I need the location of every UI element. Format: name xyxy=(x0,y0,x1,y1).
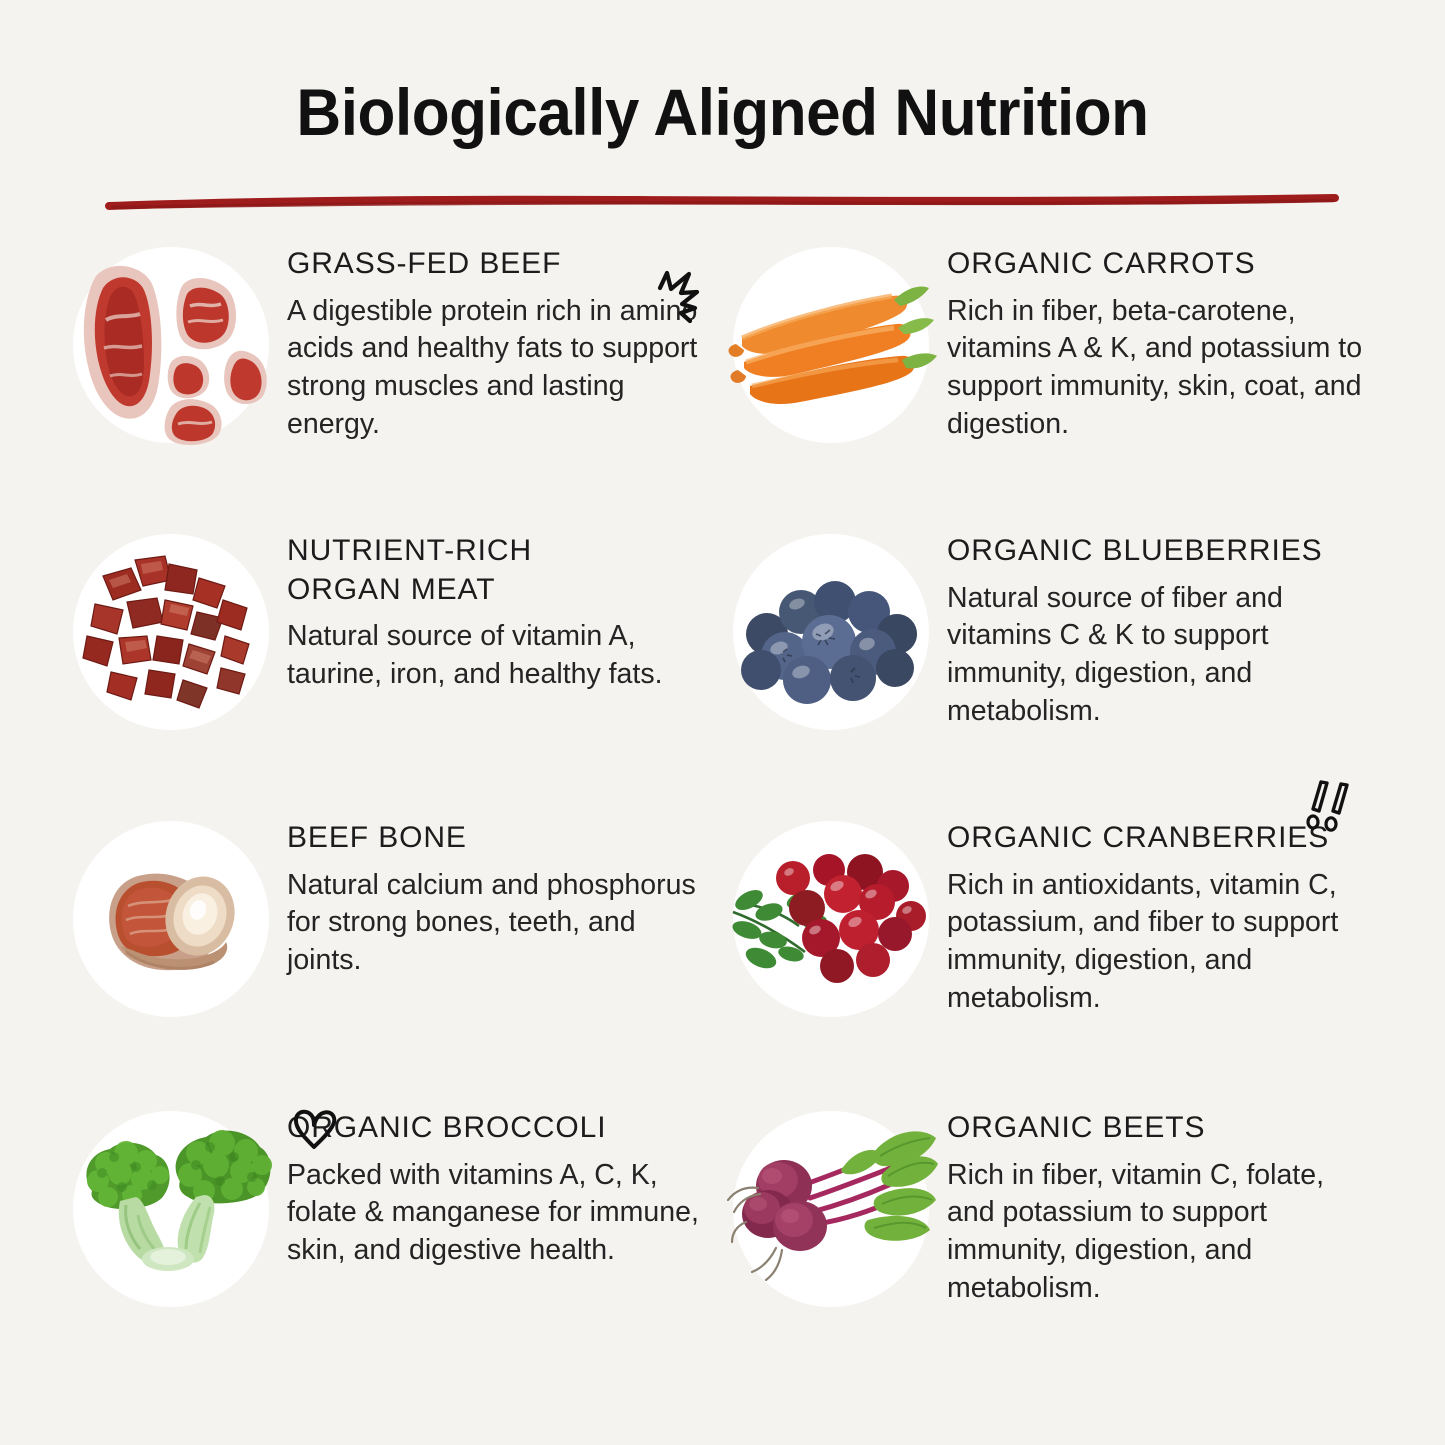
card-media-beef-bone xyxy=(55,809,287,1034)
card-description: Rich in fiber, beta-carotene, vitamins A… xyxy=(947,293,1365,443)
double-exclamation-doodle xyxy=(1305,778,1361,839)
card-title: ORGANIC CARROTS xyxy=(947,245,1365,283)
card-organic-cranberries: ORGANIC CRANBERRIES Rich in antioxidants… xyxy=(715,809,1375,1099)
card-grass-fed-beef: GRASS-FED BEEF A digestible protein rich… xyxy=(55,235,715,522)
card-description: Packed with vitamins A, C, K, folate & m… xyxy=(287,1157,705,1270)
card-body-organ-meat: NUTRIENT-RICH ORGAN MEAT Natural source … xyxy=(287,522,715,693)
card-body-beef: GRASS-FED BEEF A digestible protein rich… xyxy=(287,235,715,443)
card-title: GRASS-FED BEEF xyxy=(287,245,705,283)
carrots-icon xyxy=(724,258,939,438)
card-media-carrots xyxy=(715,235,947,460)
heart-icon xyxy=(290,1105,340,1153)
nutrition-grid: GRASS-FED BEEF A digestible protein rich… xyxy=(0,235,1445,1389)
card-description: A digestible protein rich in amino acids… xyxy=(287,293,705,443)
card-organic-broccoli: ORGANIC BROCCOLI Packed with vitamins A,… xyxy=(55,1099,715,1389)
card-media-beef xyxy=(55,235,287,460)
card-media-cranberries xyxy=(715,809,947,1034)
cranberries-icon xyxy=(725,834,937,1009)
card-title: ORGANIC CRANBERRIES xyxy=(947,819,1365,857)
card-description: Rich in fiber, vitamin C, folate, and po… xyxy=(947,1157,1365,1307)
card-title: ORGANIC BEETS xyxy=(947,1109,1365,1147)
card-description: Natural calcium and phosphorus for stron… xyxy=(287,867,705,980)
card-organic-blueberries: ORGANIC BLUEBERRIES Natural source of fi… xyxy=(715,522,1375,809)
card-title: NUTRIENT-RICH ORGAN MEAT xyxy=(287,532,705,609)
heart-doodle xyxy=(290,1105,340,1158)
card-media-blueberries xyxy=(715,522,947,747)
header: Biologically Aligned Nutrition xyxy=(0,0,1445,213)
card-media-organ-meat xyxy=(55,522,287,747)
card-body-blueberries: ORGANIC BLUEBERRIES Natural source of fi… xyxy=(947,522,1375,730)
organ-meat-cubes-icon xyxy=(65,540,277,730)
card-body-cranberries: ORGANIC CRANBERRIES Rich in antioxidants… xyxy=(947,809,1375,1017)
card-title: ORGANIC BLUEBERRIES xyxy=(947,532,1365,570)
card-organ-meat: NUTRIENT-RICH ORGAN MEAT Natural source … xyxy=(55,522,715,809)
card-description: Natural source of fiber and vitamins C &… xyxy=(947,580,1365,730)
title-divider xyxy=(0,191,1445,213)
card-organic-carrots: ORGANIC CARROTS Rich in fiber, beta-caro… xyxy=(715,235,1375,522)
card-title: ORGANIC BROCCOLI xyxy=(287,1109,705,1147)
zigzag-doodle xyxy=(655,268,707,331)
red-underline-icon xyxy=(105,193,1340,211)
card-description: Rich in antioxidants, vitamin C, potassi… xyxy=(947,867,1365,1017)
card-body-carrots: ORGANIC CARROTS Rich in fiber, beta-caro… xyxy=(947,235,1375,443)
beef-bone-icon xyxy=(76,842,266,1002)
card-body-beef-bone: BEEF BONE Natural calcium and phosphorus… xyxy=(287,809,715,979)
card-media-beets xyxy=(715,1099,947,1324)
card-beef-bone: BEEF BONE Natural calcium and phosphorus… xyxy=(55,809,715,1099)
card-organic-beets: ORGANIC BEETS Rich in fiber, vitamin C, … xyxy=(715,1099,1375,1389)
card-body-beets: ORGANIC BEETS Rich in fiber, vitamin C, … xyxy=(947,1099,1375,1307)
broccoli-icon xyxy=(64,1119,279,1304)
double-exclamation-icon xyxy=(1305,778,1361,834)
card-media-broccoli xyxy=(55,1099,287,1324)
card-description: Natural source of vitamin A, taurine, ir… xyxy=(287,618,705,693)
blueberries-icon xyxy=(731,552,931,717)
card-body-broccoli: ORGANIC BROCCOLI Packed with vitamins A,… xyxy=(287,1099,715,1269)
raw-beef-steak-icon xyxy=(66,248,276,448)
beets-icon xyxy=(724,1122,939,1302)
page-title: Biologically Aligned Nutrition xyxy=(43,78,1401,147)
card-title: BEEF BONE xyxy=(287,819,705,857)
zigzag-icon xyxy=(655,268,707,326)
